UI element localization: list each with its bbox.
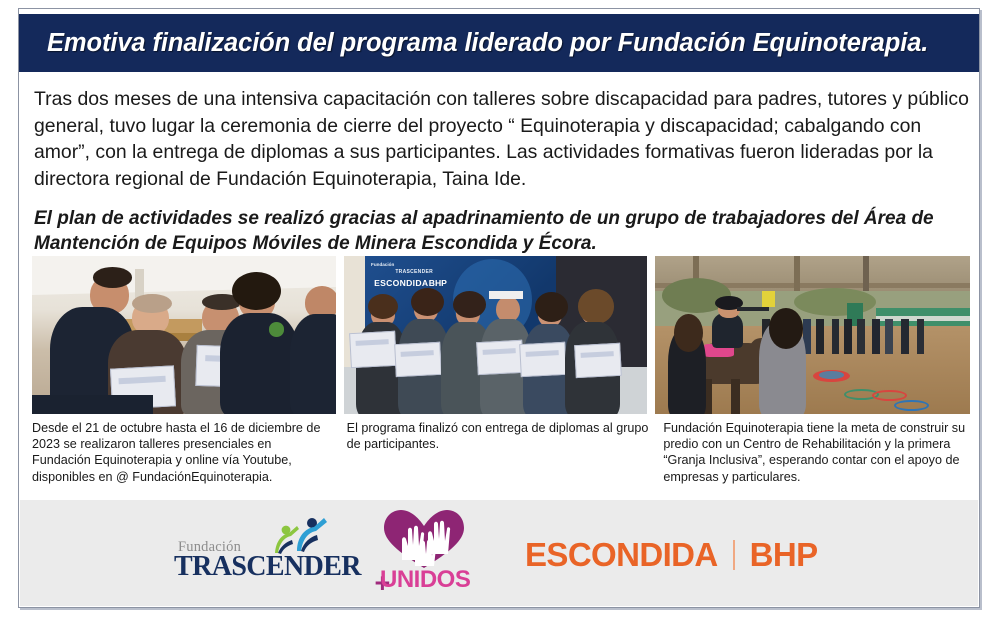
caption-photo-2: El programa finalizó con entrega de dipl…	[347, 420, 664, 500]
logo-escondida-bhp: ESCONDIDA BHP	[525, 536, 818, 574]
logo-escondida-wordmark: ESCONDIDA	[525, 536, 718, 574]
caption-photo-3: Fundación Equinoterapia tiene la meta de…	[663, 420, 982, 500]
caption-photo-1: Desde el 21 de octubre hasta el 16 de di…	[32, 420, 347, 500]
two-figures-icon	[272, 515, 330, 559]
document-page: Emotiva finalización del programa lidera…	[0, 0, 1000, 619]
article-body: Tras dos meses de una intensiva capacita…	[34, 86, 969, 270]
photo-ceremony-diplomas	[32, 256, 336, 414]
photo-group-diplomas: Fundación TRASCENDER ESCONDIDA BHP	[344, 256, 648, 414]
heart-hands-icon	[378, 508, 470, 570]
page-title: Emotiva finalización del programa lidera…	[19, 29, 928, 58]
logo-bhp-wordmark: BHP	[750, 536, 818, 574]
logo-unidos-wordmark: UNIDOS	[380, 566, 470, 594]
paragraph-sponsors: El plan de actividades se realizó gracia…	[34, 206, 969, 256]
logo-fundacion-trascender: Fundación TRASCENDER	[160, 513, 335, 585]
logo-mas-unidos: + UNIDOS	[378, 508, 488, 594]
logo-divider	[733, 540, 735, 570]
paragraph-intro: Tras dos meses de una intensiva capacita…	[34, 86, 969, 192]
logo-trascender-wordmark: TRASCENDER	[174, 551, 361, 583]
header-band: Emotiva finalización del programa lidera…	[19, 14, 979, 72]
photo-gallery: Fundación TRASCENDER ESCONDIDA BHP	[32, 256, 970, 416]
photo-captions: Desde el 21 de octubre hasta el 16 de di…	[32, 420, 982, 500]
photo-equine-therapy-arena	[655, 256, 970, 414]
